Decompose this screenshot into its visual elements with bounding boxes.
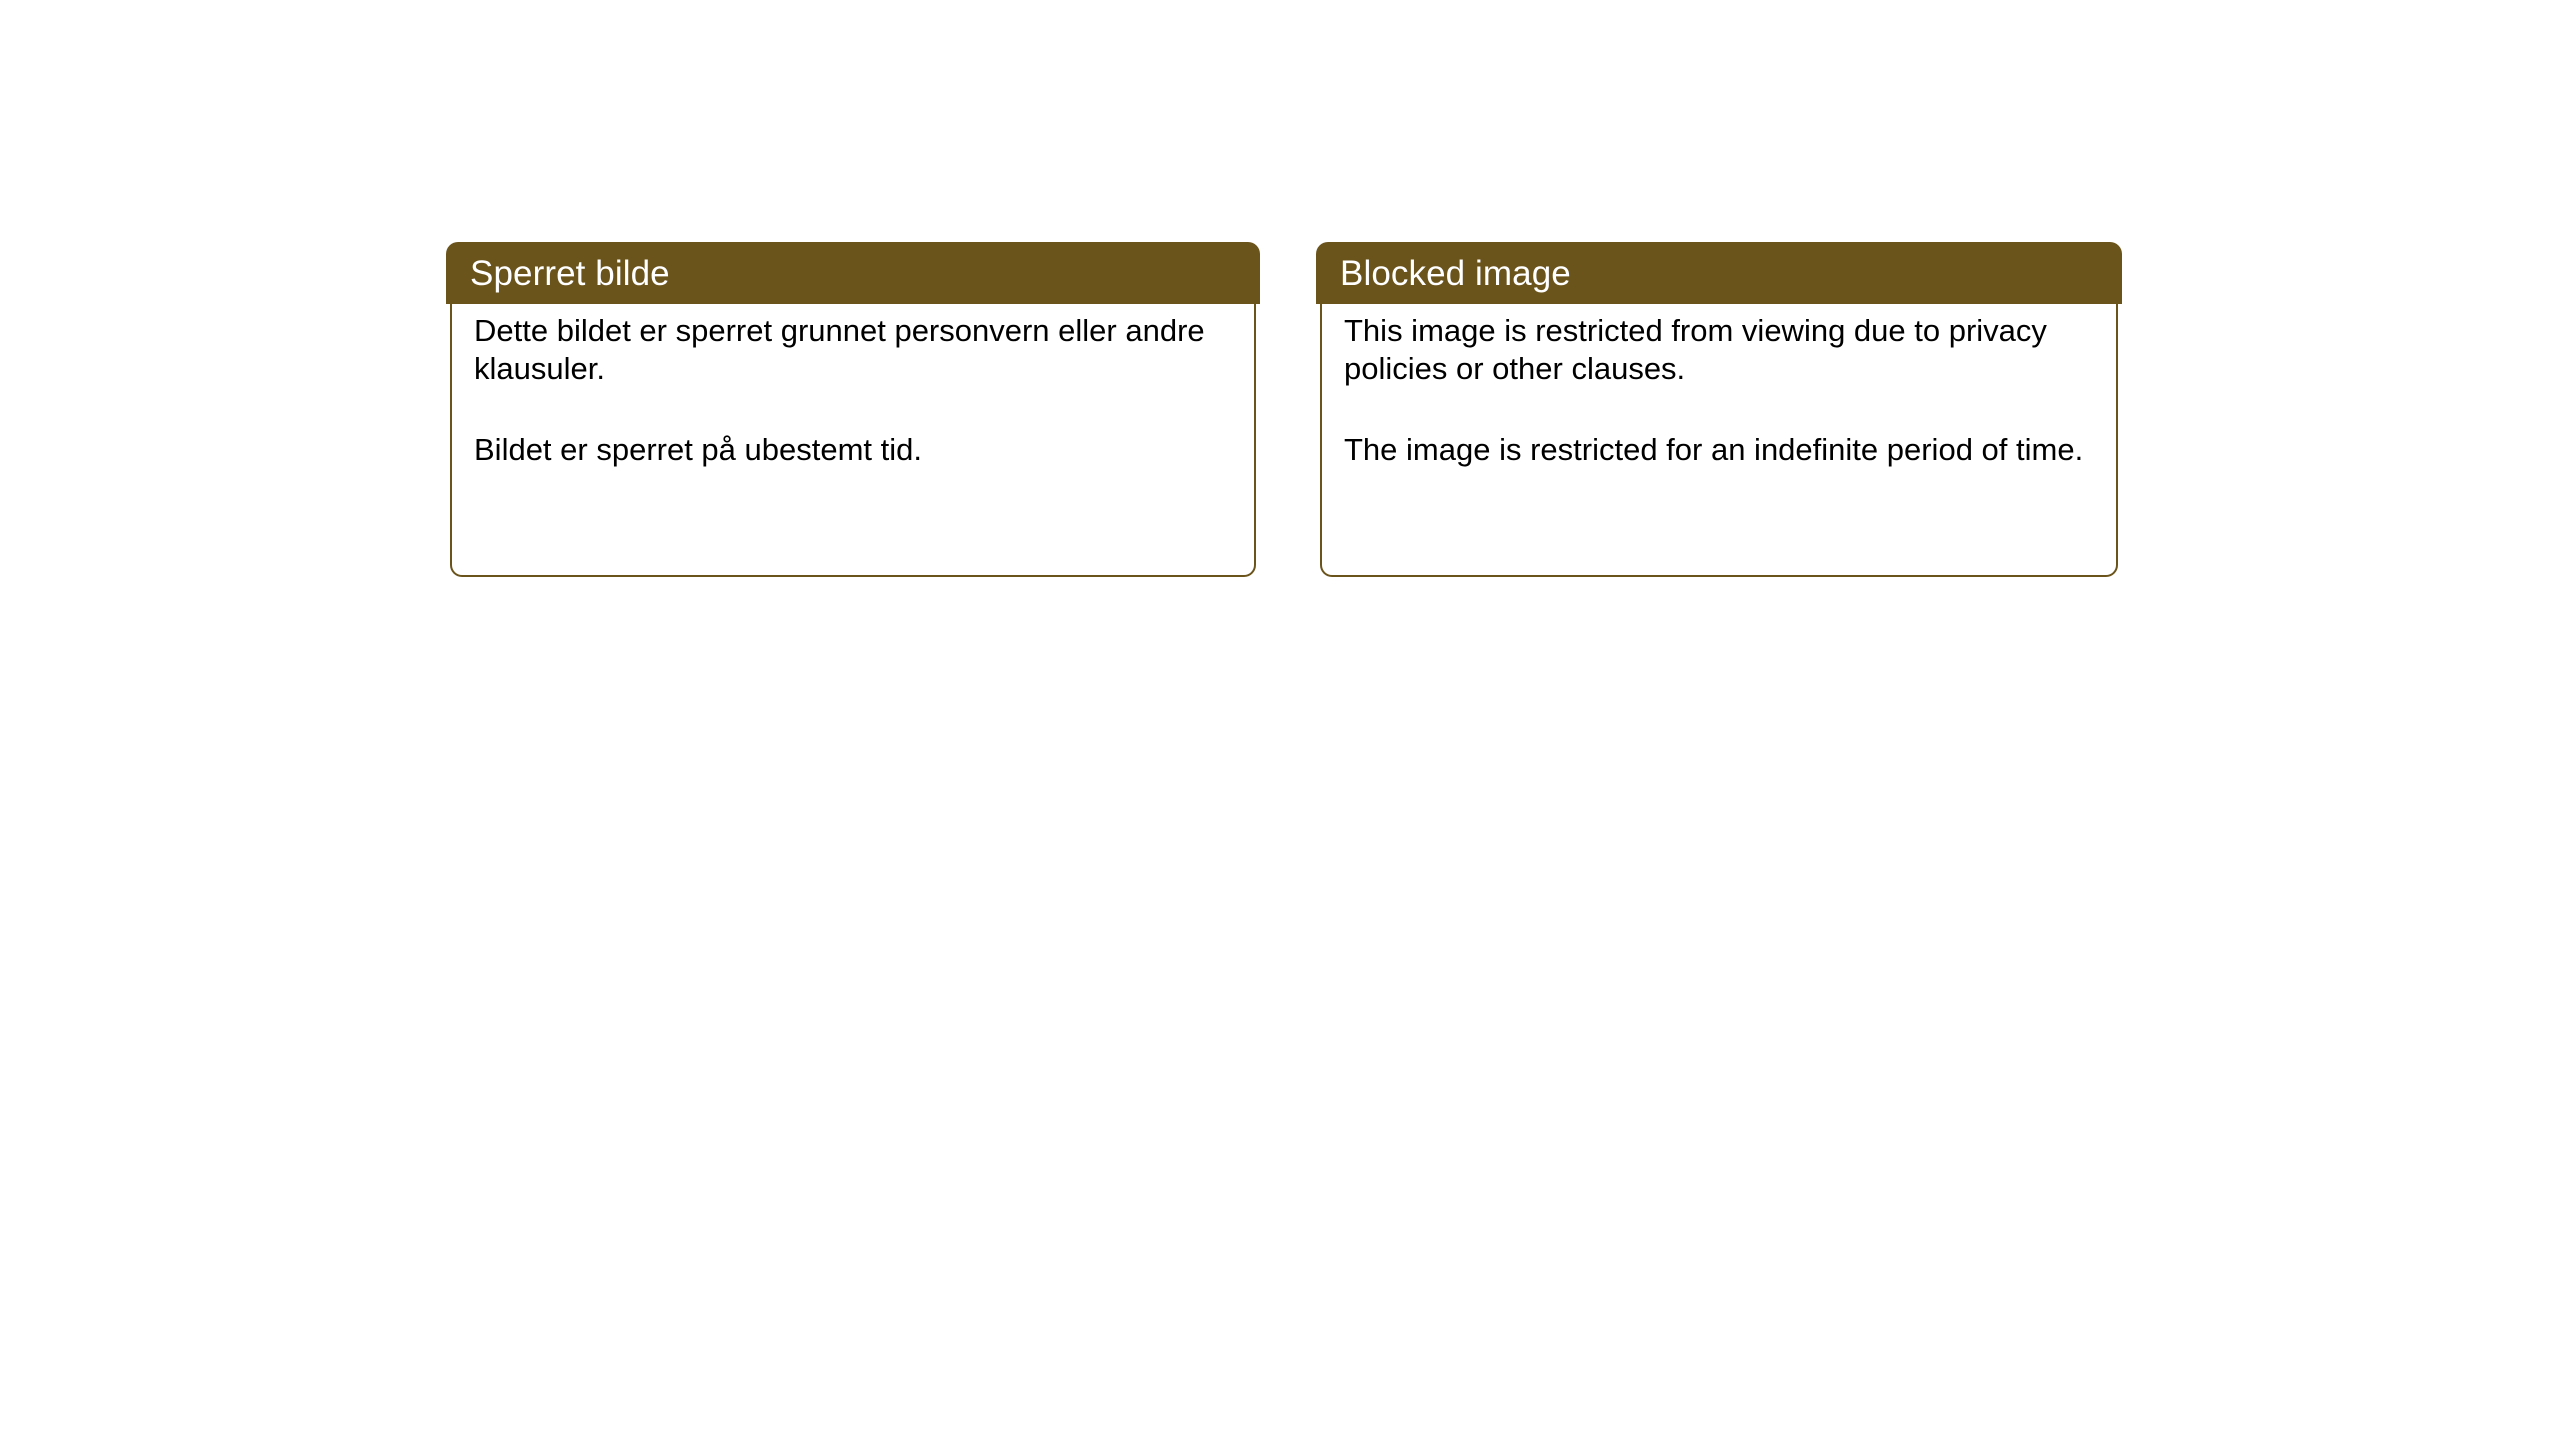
page-canvas: Sperret bilde Dette bildet er sperret gr… — [0, 0, 2560, 1440]
card-paragraph-no-1: Dette bildet er sperret grunnet personve… — [474, 312, 1232, 388]
blocked-image-notice-card-no: Sperret bilde Dette bildet er sperret gr… — [446, 242, 1260, 577]
card-header-no: Sperret bilde — [446, 242, 1260, 304]
card-body-no: Dette bildet er sperret grunnet personve… — [450, 300, 1256, 577]
card-body-en: This image is restricted from viewing du… — [1320, 300, 2118, 577]
card-title-en: Blocked image — [1316, 256, 1571, 291]
card-paragraph-en-1: This image is restricted from viewing du… — [1344, 312, 2094, 388]
card-title-no: Sperret bilde — [446, 256, 670, 291]
card-header-en: Blocked image — [1316, 242, 2122, 304]
card-paragraph-no-2: Bildet er sperret på ubestemt tid. — [474, 431, 1232, 469]
card-paragraph-en-2: The image is restricted for an indefinit… — [1344, 431, 2094, 469]
blocked-image-notice-card-en: Blocked image This image is restricted f… — [1316, 242, 2122, 577]
